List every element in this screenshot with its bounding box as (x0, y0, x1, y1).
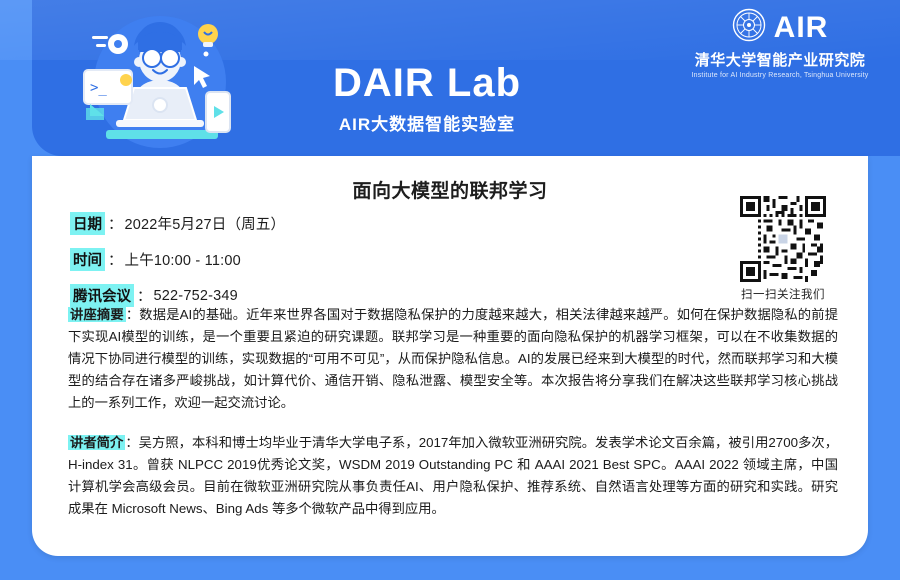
tsinghua-emblem-icon (732, 8, 766, 47)
bio-label: 讲者简介 (68, 435, 125, 450)
bio-paragraph: 讲者简介：吴方照，本科和博士均毕业于清华大学电子系，2017年加入微软亚洲研究院… (68, 432, 838, 520)
meta-label-date: 日期 (70, 212, 105, 235)
lab-branding: DAIR Lab AIR大数据智能实验室 (262, 60, 592, 135)
meta-row-date: 日期 ： 2022年5月27日（周五） (70, 212, 285, 235)
qr-code-icon (740, 196, 826, 282)
lab-title: DAIR Lab (262, 60, 592, 106)
meta-value-date: 2022年5月27日（周五） (125, 213, 286, 234)
lab-subtitle: AIR大数据智能实验室 (262, 110, 592, 135)
institute-name-en: Institute for AI Industry Research, Tsin… (682, 72, 878, 79)
meta-colon: ： (108, 213, 123, 234)
air-wordmark: AIR (774, 12, 829, 44)
abstract-paragraph: 讲座摘要：数据是AI的基础。近年来世界各国对于数据隐私保护的力度越来越大，相关法… (68, 304, 838, 414)
abstract-text: ：数据是AI的基础。近年来世界各国对于数据隐私保护的力度越来越大，相关法律越来越… (68, 307, 838, 410)
air-tsinghua-logo: AIR 清华大学智能产业研究院 Institute for AI Industr… (682, 8, 878, 79)
content-card: 面向大模型的联邦学习 日期 ： 2022年5月27日（周五） 时间 ： 上午10… (32, 156, 868, 556)
meta-row-time: 时间 ： 上午10:00 - 11:00 (70, 248, 285, 271)
qr-code-block: 扫一扫关注我们 (730, 196, 836, 302)
meta-label-time: 时间 (70, 248, 105, 271)
qr-caption: 扫一扫关注我们 (730, 286, 836, 302)
svg-text:>_: >_ (90, 80, 107, 96)
institute-name-cn: 清华大学智能产业研究院 (682, 49, 878, 70)
meta-colon: ： (108, 249, 123, 270)
developer-at-laptop-icon: >_ (60, 8, 260, 156)
seminar-poster: >_ DAIR Lab AIR大数据智能实验室 (0, 0, 900, 580)
abstract-label: 讲座摘要 (68, 307, 126, 322)
bio-text: ：吴方照，本科和博士均毕业于清华大学电子系，2017年加入微软亚洲研究院。发表学… (68, 435, 838, 516)
meta-colon: ： (137, 285, 152, 306)
meta-value-time: 上午10:00 - 11:00 (125, 249, 241, 270)
meta-value-meeting-id: 522-752-349 (154, 288, 238, 304)
